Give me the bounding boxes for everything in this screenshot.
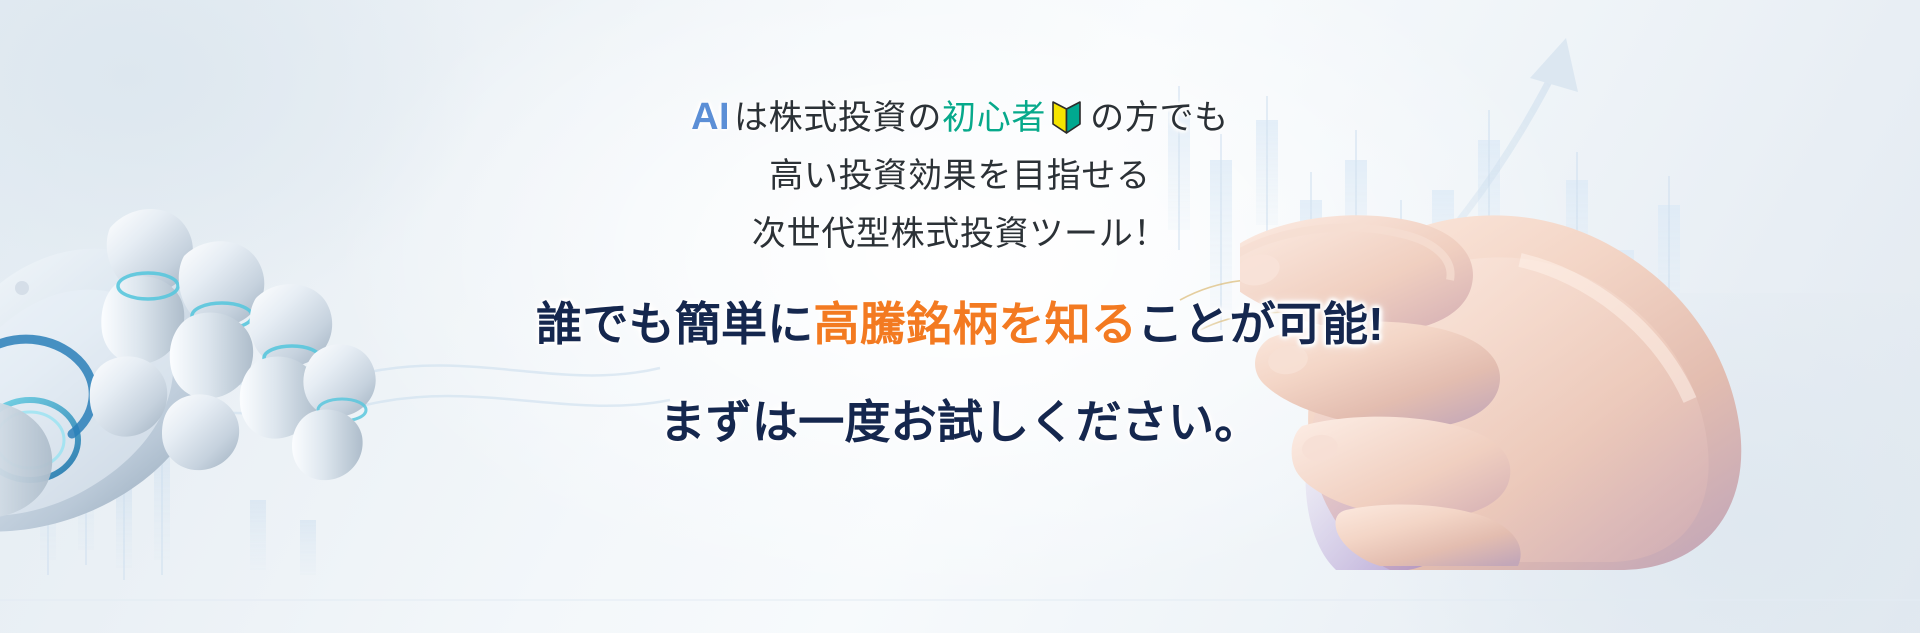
subhead-line-3: 次世代型株式投資ツール！ — [0, 205, 1920, 263]
beginner-highlight: 初心者 — [942, 99, 1046, 137]
headline-highlight: 高騰銘柄を知る — [814, 298, 1138, 350]
subhead-line-1-part-1: は株式投資の — [734, 99, 942, 137]
ai-word: AI — [691, 96, 734, 138]
hero-banner: AIは株式投資の初心者 の方でも 高い投資効果を目指せる 次世代型株式投資ツール… — [0, 0, 1920, 633]
headline-part-2: ことが可能! — [1137, 298, 1384, 350]
headline-line-1: 誰でも簡単に高騰銘柄を知ることが可能! — [0, 287, 1920, 361]
subhead-line-1-part-2: の方でも — [1090, 99, 1229, 137]
subhead-line-1: AIは株式投資の初心者 の方でも — [0, 88, 1920, 147]
subhead-line-2: 高い投資効果を目指せる — [0, 147, 1920, 205]
hero-copy: AIは株式投資の初心者 の方でも 高い投資効果を目指せる 次世代型株式投資ツール… — [0, 88, 1920, 459]
beginner-badge-icon — [1050, 95, 1083, 130]
headline-line-2: まずは一度お試しください。 — [0, 385, 1920, 459]
headline-part-1: 誰でも簡単に — [536, 298, 813, 350]
